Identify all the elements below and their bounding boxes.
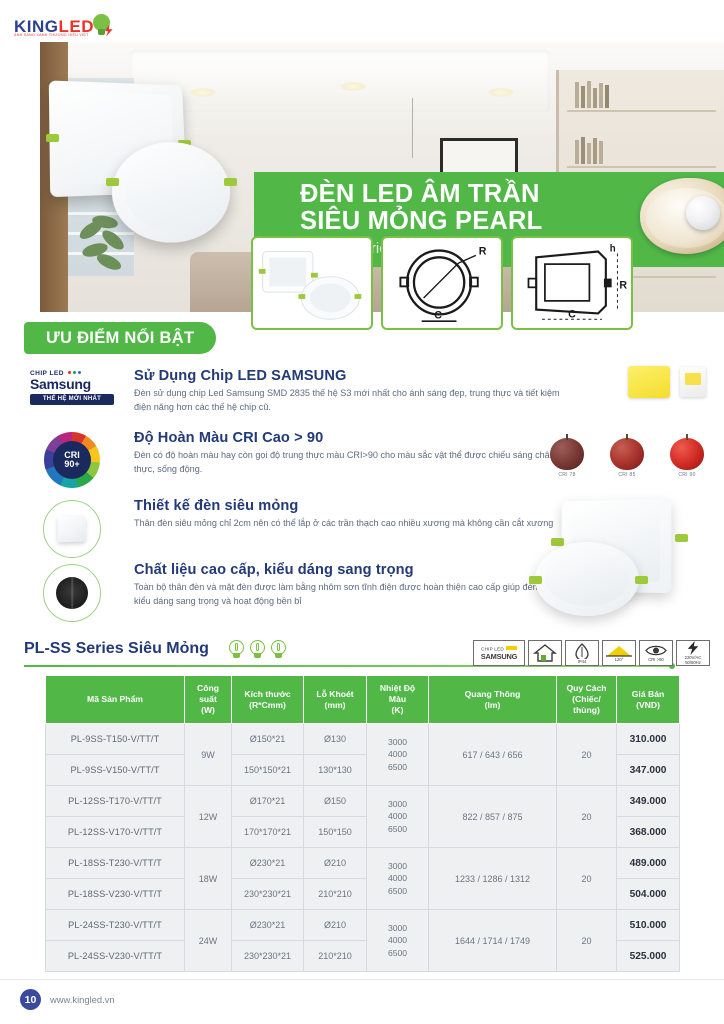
cell-price: 510.000 <box>617 910 680 941</box>
feature-description: Thân đèn siêu mỏng chỉ 2cm nên có thể lắ… <box>134 517 564 531</box>
cell-product-code: PL-9SS-V150-V/TT/T <box>46 755 185 786</box>
cell-product-code: PL-12SS-V170-V/TT/T <box>46 817 185 848</box>
cell-size: 230*230*21 <box>232 941 304 972</box>
cri-color-wheel-icon: CRI90+ <box>24 430 120 488</box>
th-power: Côngsuất(W) <box>185 676 232 724</box>
feature-description: Đèn có độ hoàn màu hay còn gọi độ trung … <box>134 449 564 476</box>
bulb-icon <box>228 640 245 660</box>
cell-hole: Ø130 <box>304 724 367 755</box>
cell-packing: 20 <box>557 786 617 848</box>
cell-price: 349.000 <box>617 786 680 817</box>
cell-product-code: PL-12SS-T170-V/TT/T <box>46 786 185 817</box>
bulb-icon <box>91 14 110 39</box>
svg-text:R: R <box>479 245 487 257</box>
feature-title: Sử Dụng Chip LED SAMSUNG <box>134 368 644 384</box>
website-url[interactable]: www.kingled.vn <box>50 994 115 1005</box>
brand-logo-text: KINGLED <box>14 18 94 35</box>
round-downlight <box>109 142 233 242</box>
slim-panel-icon <box>24 498 120 558</box>
table-row: PL-12SS-T170-V/TT/T 12W Ø170*21 Ø150 300… <box>46 786 680 817</box>
cell-cct: 300040006500 <box>367 724 429 786</box>
samsung-chip-badge: CHIP LED Samsung THẾ HỆ MỚI NHẤT <box>24 368 120 414</box>
product-photo-thumb <box>251 236 373 330</box>
round-panel-photo <box>535 542 639 616</box>
table-row: PL-18SS-T230-V/TT/T 18W Ø230*21 Ø210 300… <box>46 848 680 879</box>
cell-size: Ø230*21 <box>232 910 304 941</box>
led-chip-photos <box>628 366 706 398</box>
footer-divider <box>0 979 724 980</box>
cri-90-badge: CRI >90 <box>639 640 673 666</box>
cell-packing: 20 <box>557 848 617 910</box>
cell-cct: 300040006500 <box>367 848 429 910</box>
th-luminous-flux: Quang Thông(lm) <box>429 676 557 724</box>
cell-size: Ø150*21 <box>232 724 304 755</box>
apple-icon <box>670 438 704 470</box>
cell-size: 150*150*21 <box>232 755 304 786</box>
cell-price: 489.000 <box>617 848 680 879</box>
cell-price: 368.000 <box>617 817 680 848</box>
product-panel-photos <box>529 500 714 620</box>
product-specs-table: Mã Sản Phẩm Côngsuất(W) Kích thước(R*Cmm… <box>45 675 680 972</box>
table-header-row: Mã Sản Phẩm Côngsuất(W) Kích thước(R*Cmm… <box>46 676 680 724</box>
cell-cct: 300040006500 <box>367 910 429 972</box>
table-row: PL-9SS-T150-V/TT/T 9W Ø150*21 Ø130 30004… <box>46 724 680 755</box>
cell-hole: Ø210 <box>304 848 367 879</box>
cell-luminous-flux: 1644 / 1714 / 1749 <box>429 910 557 972</box>
cell-hole: Ø150 <box>304 786 367 817</box>
cell-size: 170*170*21 <box>232 817 304 848</box>
cell-cct: 300040006500 <box>367 786 429 848</box>
led-chip-small-icon <box>680 367 706 397</box>
ceiling-spot-light <box>488 88 514 97</box>
cell-price: 525.000 <box>617 941 680 972</box>
cell-power: 9W <box>185 724 232 786</box>
th-price: Giá Bán(VND) <box>617 676 680 724</box>
indoor-use-badge <box>528 640 562 666</box>
cell-hole: 210*210 <box>304 879 367 910</box>
cell-product-code: PL-18SS-T230-V/TT/T <box>46 848 185 879</box>
feature-description: Toàn bộ thân đèn và mặt đèn được làm bằn… <box>134 581 564 608</box>
apple-icon <box>610 438 644 470</box>
cell-luminous-flux: 617 / 643 / 656 <box>429 724 557 786</box>
series-table-title: PL-SS Series Siêu Mỏng <box>24 640 209 658</box>
cell-product-code: PL-18SS-V230-V/TT/T <box>46 879 185 910</box>
technical-badges: CHIP LED SAMSUNG IP44 120° <box>473 640 710 666</box>
ceiling-spot-light <box>340 82 366 91</box>
cell-packing: 20 <box>557 910 617 972</box>
product-thumbnails: R C h R C <box>251 236 633 330</box>
cell-hole: 210*210 <box>304 941 367 972</box>
svg-text:C: C <box>568 308 576 320</box>
cell-packing: 20 <box>557 724 617 786</box>
cell-luminous-flux: 822 / 857 / 875 <box>429 786 557 848</box>
premium-material-icon <box>24 562 120 622</box>
feature-description: Đèn sử dụng chip Led Samsung SMD 2835 th… <box>134 387 564 414</box>
th-size: Kích thước(R*Cmm) <box>232 676 304 724</box>
pearl-oyster-icon <box>640 178 724 254</box>
table-row: PL-24SS-T230-V/TT/T 24W Ø230*21 Ø210 300… <box>46 910 680 941</box>
cell-luminous-flux: 1233 / 1286 / 1312 <box>429 848 557 910</box>
voltage-badge: 220V/AC 50/60Hz <box>676 640 710 666</box>
cell-size: Ø230*21 <box>232 848 304 879</box>
cell-hole: 150*150 <box>304 817 367 848</box>
page-footer: 10 www.kingled.vn <box>20 989 115 1010</box>
cell-product-code: PL-24SS-T230-V/TT/T <box>46 910 185 941</box>
page-number-badge: 10 <box>20 989 41 1010</box>
chip-led-samsung-badge: CHIP LED SAMSUNG <box>473 640 525 666</box>
led-chip-large-icon <box>628 366 670 398</box>
svg-text:R: R <box>619 279 627 291</box>
beam-angle-badge: 120° <box>602 640 636 666</box>
cell-power: 12W <box>185 786 232 848</box>
product-cutout <box>50 82 250 242</box>
square-dimension-diagram: h R C <box>511 236 633 330</box>
pendant-cord <box>412 98 413 158</box>
th-product-code: Mã Sản Phẩm <box>46 676 185 724</box>
features-section-header: ƯU ĐIỂM NỔI BẬT <box>24 322 216 354</box>
th-packing: Quy Cách(Chiếc/thùng) <box>557 676 617 724</box>
cell-size: 230*230*21 <box>232 879 304 910</box>
cell-hole: 130*130 <box>304 755 367 786</box>
cell-product-code: PL-24SS-V230-V/TT/T <box>46 941 185 972</box>
cell-size: Ø170*21 <box>232 786 304 817</box>
cri-apple-comparison: CRI 78 CRI 85 CRI 90 <box>544 438 710 478</box>
cell-price: 347.000 <box>617 755 680 786</box>
cell-hole: Ø210 <box>304 910 367 941</box>
th-hole: Lỗ Khoét(mm) <box>304 676 367 724</box>
cell-price: 504.000 <box>617 879 680 910</box>
cell-power: 24W <box>185 910 232 972</box>
apple-icon <box>550 438 584 470</box>
bulb-icon <box>270 640 287 660</box>
svg-text:h: h <box>610 244 616 255</box>
cell-power: 18W <box>185 848 232 910</box>
series-bulb-icons <box>228 640 287 660</box>
catalog-page: KINGLED ÁNH SÁNG XANH THƯƠNG HIỆU VIỆT <box>0 0 724 1024</box>
cell-product-code: PL-9SS-T150-V/TT/T <box>46 724 185 755</box>
th-cct: Nhiệt ĐộMàu(K) <box>367 676 429 724</box>
round-dimension-diagram: R C <box>381 236 503 330</box>
feature-item-samsung-chip: CHIP LED Samsung THẾ HỆ MỚI NHẤT Sử Dụng… <box>24 368 644 414</box>
svg-text:C: C <box>434 309 442 321</box>
brand-tagline: ÁNH SÁNG XANH THƯƠNG HIỆU VIỆT <box>14 33 89 37</box>
cell-price: 310.000 <box>617 724 680 755</box>
bulb-icon <box>249 640 266 660</box>
ip44-badge: IP44 <box>565 640 599 666</box>
